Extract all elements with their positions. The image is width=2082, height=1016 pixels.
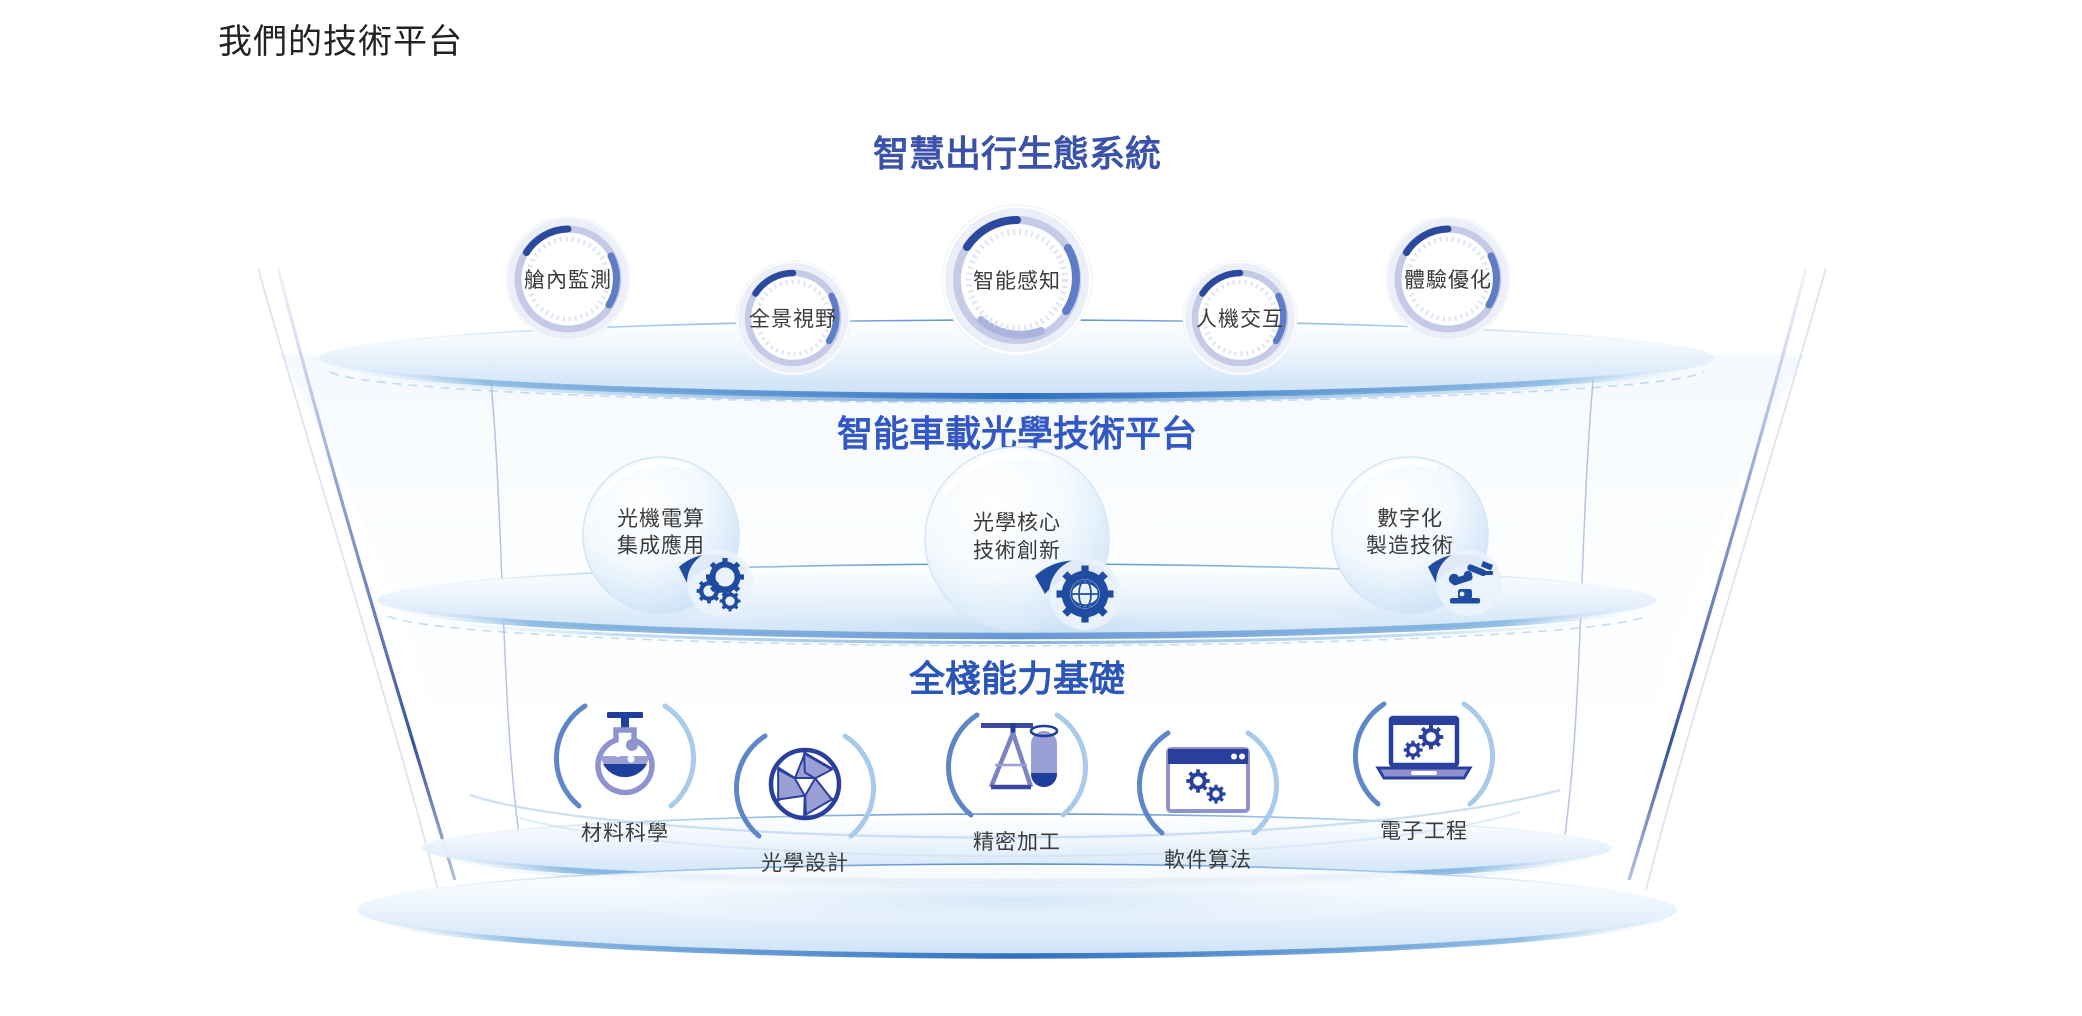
eco-node-label: 全景視野 — [749, 303, 837, 333]
platform-node-label-line1: 光學核心 — [973, 510, 1061, 538]
arc-frame-icon — [1344, 686, 1504, 836]
platform-node-label-line2: 製造技術 — [1366, 533, 1454, 561]
platform-node-label-line2: 集成應用 — [617, 533, 705, 561]
eco-node-label: 艙內監測 — [524, 264, 612, 294]
technology-platform-diagram: 智慧出行生態系統 艙內監測 全景視野 — [0, 0, 2082, 1016]
foundation-node-precision-machining[interactable]: 精密加工 — [967, 722, 1067, 822]
platform-node-optomechanical-integration[interactable]: 光機電算 集成應用 — [581, 459, 741, 619]
arc-frame-icon — [545, 688, 705, 838]
platform-node-label: 光學核心 技術創新 — [973, 510, 1061, 565]
eco-node-experience-optimization[interactable]: 體驗優化 — [1381, 212, 1515, 346]
arc-frame-icon — [1128, 715, 1288, 865]
foundation-node-label: 材料科學 — [581, 817, 669, 847]
foundation-node-software-algorithms[interactable]: 軟件算法 — [1158, 740, 1258, 840]
foundation-node-label: 軟件算法 — [1164, 844, 1252, 874]
eco-node-panoramic-view[interactable]: 全景視野 — [732, 257, 854, 379]
platform-node-digital-manufacturing[interactable]: 數字化 製造技術 — [1330, 459, 1490, 619]
aperture-icon — [765, 750, 839, 822]
eco-node-label: 體驗優化 — [1404, 264, 1492, 294]
platform-node-label-line1: 數字化 — [1366, 505, 1454, 533]
platform-node-label: 光機電算 集成應用 — [617, 505, 705, 560]
section-title-foundation: 全棧能力基礎 — [909, 650, 1125, 702]
eco-node-human-machine-interaction[interactable]: 人機交互 — [1179, 257, 1301, 379]
foundation-node-label: 精密加工 — [973, 826, 1061, 856]
arc-frame-icon — [725, 718, 885, 868]
foundation-node-label: 光學設計 — [761, 847, 849, 877]
platform-node-label-line1: 光機電算 — [617, 505, 705, 533]
foundation-node-electronic-engineering[interactable]: 電子工程 — [1374, 711, 1474, 811]
eco-node-cabin-monitoring[interactable]: 艙內監測 — [501, 212, 635, 346]
foundation-node-material-science[interactable]: 材料科學 — [575, 713, 675, 813]
eco-node-intelligent-perception[interactable]: 智能感知 — [937, 200, 1097, 360]
flask-icon — [598, 712, 652, 792]
platform-node-label-line2: 技術創新 — [973, 537, 1061, 565]
plate-base — [357, 864, 1677, 956]
laptop-gears-icon — [1378, 718, 1470, 778]
foundation-node-optical-design[interactable]: 光學設計 — [755, 743, 855, 843]
platform-node-label: 數字化 製造技術 — [1366, 505, 1454, 560]
caliper-icon — [981, 723, 1057, 787]
eco-node-label: 人機交互 — [1196, 303, 1284, 333]
eco-node-label: 智能感知 — [973, 265, 1061, 295]
foundation-node-label: 電子工程 — [1380, 815, 1468, 845]
section-title-ecosystem: 智慧出行生態系統 — [873, 125, 1161, 177]
browser-gears-icon — [1168, 749, 1248, 811]
globe-gear-icon — [1057, 566, 1114, 623]
arc-frame-icon — [937, 697, 1097, 847]
platform-node-optical-core-innovation[interactable]: 光學核心 技術創新 — [922, 450, 1112, 640]
